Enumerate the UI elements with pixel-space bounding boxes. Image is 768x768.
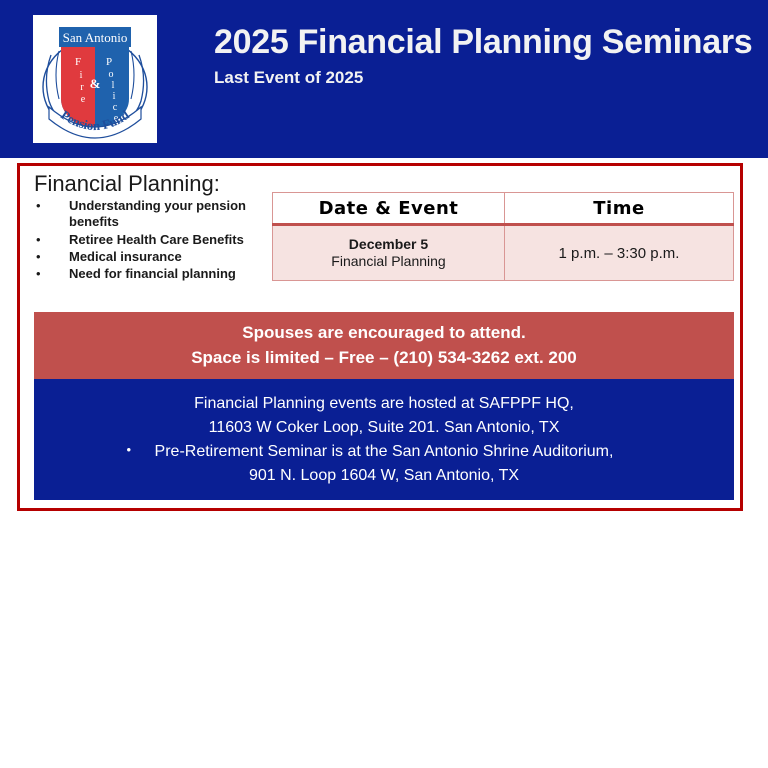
svg-text:i: i <box>113 91 116 102</box>
notice-line-1: Spouses are encouraged to attend. <box>242 321 525 346</box>
column-header-date-event: Date & Event <box>273 193 505 225</box>
header-text-group: 2025 Financial Planning Seminars Last Ev… <box>214 22 754 88</box>
column-header-time: Time <box>505 193 734 225</box>
svg-text:F: F <box>75 56 81 68</box>
content-panel: Financial Planning: • Understanding your… <box>17 163 743 511</box>
list-item-label: Need for financial planning <box>69 266 284 282</box>
financial-planning-topics: Financial Planning: • Understanding your… <box>34 172 284 282</box>
cell-date: December 5 <box>273 236 504 254</box>
location-line-4: 901 N. Loop 1604 W, San Antonio, TX <box>249 464 519 488</box>
schedule-table: Date & Event Time December 5 Financial P… <box>272 192 734 281</box>
list-item-label: Medical insurance <box>69 249 284 265</box>
svg-text:P: P <box>106 56 112 68</box>
bullet-icon: • <box>34 249 69 265</box>
bullet-icon: • <box>34 266 69 282</box>
cell-time: 1 p.m. – 3:30 p.m. <box>505 225 734 281</box>
location-line-3: Pre-Retirement Seminar is at the San Ant… <box>155 443 614 460</box>
header-band: San Antonio F i r e & P o l i c e Pensio… <box>0 0 768 158</box>
list-item-label: Understanding your pension benefits <box>69 198 284 231</box>
svg-text:o: o <box>109 69 114 80</box>
notice-banner: Spouses are encouraged to attend. Space … <box>34 312 734 379</box>
list-item: • Understanding your pension benefits <box>34 198 284 231</box>
list-item: • Need for financial planning <box>34 266 284 282</box>
table-row: December 5 Financial Planning 1 p.m. – 3… <box>273 225 734 281</box>
list-item: • Medical insurance <box>34 249 284 265</box>
logo-container: San Antonio F i r e & P o l i c e Pensio… <box>33 15 157 143</box>
svg-text:l: l <box>112 80 115 91</box>
location-line-1: Financial Planning events are hosted at … <box>194 392 574 416</box>
bullet-icon: • <box>127 440 132 460</box>
cell-date-event: December 5 Financial Planning <box>273 225 505 281</box>
svg-text:&: & <box>90 76 101 91</box>
location-line-2: 11603 W Coker Loop, Suite 201. San Anton… <box>209 416 560 440</box>
svg-text:San Antonio: San Antonio <box>63 30 128 45</box>
notice-line-2: Space is limited – Free – (210) 534-3262… <box>191 346 577 371</box>
location-block: Financial Planning events are hosted at … <box>34 379 734 500</box>
topics-heading: Financial Planning: <box>34 172 284 196</box>
location-line-3-wrapper: •Pre-Retirement Seminar is at the San An… <box>155 440 614 464</box>
safppf-shield-logo: San Antonio F i r e & P o l i c e Pensio… <box>33 15 157 143</box>
svg-text:i: i <box>80 70 83 81</box>
page-title: 2025 Financial Planning Seminars <box>214 22 754 62</box>
cell-event: Financial Planning <box>273 253 504 271</box>
bullet-icon: • <box>34 198 69 214</box>
list-item: • Retiree Health Care Benefits <box>34 232 284 248</box>
page-subtitle: Last Event of 2025 <box>214 68 754 88</box>
svg-text:e: e <box>81 94 86 105</box>
list-item-label: Retiree Health Care Benefits <box>69 232 284 248</box>
table-header-row: Date & Event Time <box>273 193 734 225</box>
bullet-icon: • <box>34 232 69 248</box>
